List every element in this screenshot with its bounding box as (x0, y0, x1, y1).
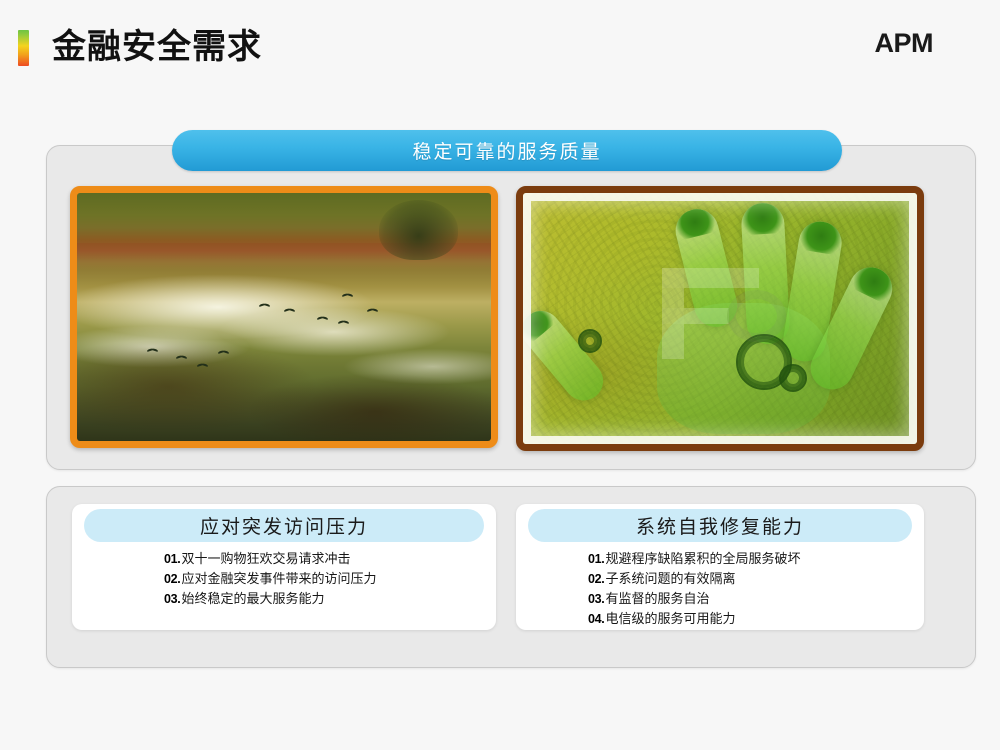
list-item-number: 02. (164, 570, 180, 589)
slide-header: 金融安全需求 APMCon (0, 0, 1000, 90)
list-item-number: 03. (164, 590, 180, 609)
list-item-label: 有监督的服务自治 (605, 589, 709, 608)
section-banner: 稳定可靠的服务质量 (172, 130, 842, 171)
list-item-number: 03. (588, 590, 604, 609)
list-item-number: 01. (164, 550, 180, 569)
logo-n-text: n (968, 28, 984, 58)
torn-edge-overlay (523, 193, 917, 444)
self-healing-card: 系统自我修复能力 01. 规避程序缺陷累积的全局服务破坏 02. 子系统问题的有… (516, 504, 924, 630)
logo-o-text: o (952, 28, 968, 58)
slide-root: 金融安全需求 APMCon 稳定可靠的服务质量 (0, 0, 1000, 750)
green-hand-canvas (523, 193, 917, 444)
list-item-number: 04. (588, 610, 604, 629)
self-healing-card-title: 系统自我修复能力 (636, 512, 804, 539)
apmcon-logo: APMCon (875, 26, 985, 60)
burst-traffic-list: 01. 双十一购物狂欢交易请求冲击 02. 应对金融突发事件带来的访问压力 03… (72, 549, 496, 609)
shoreline-tree-shape (379, 200, 458, 260)
burst-traffic-card: 应对突发访问压力 01. 双十一购物狂欢交易请求冲击 02. 应对金融突发事件带… (72, 504, 496, 630)
burst-traffic-card-title: 应对突发访问压力 (200, 512, 368, 539)
list-item-label: 子系统问题的有效隔离 (605, 569, 735, 588)
list-item-number: 02. (588, 570, 604, 589)
list-item: 04. 电信级的服务可用能力 (588, 609, 924, 629)
stormy-sea-image (70, 186, 498, 448)
gradient-bar-icon (18, 30, 29, 66)
list-item: 03. 有监督的服务自治 (588, 589, 924, 609)
list-item-label: 规避程序缺陷累积的全局服务破坏 (605, 549, 800, 568)
section-banner-label: 稳定可靠的服务质量 (412, 137, 601, 164)
list-item-label: 始终稳定的最大服务能力 (181, 589, 324, 608)
self-healing-card-header: 系统自我修复能力 (528, 509, 912, 542)
green-hand-image (516, 186, 924, 451)
list-item-label: 电信级的服务可用能力 (605, 609, 735, 628)
list-item: 01. 双十一购物狂欢交易请求冲击 (164, 549, 496, 569)
list-item: 02. 子系统问题的有效隔离 (588, 569, 924, 589)
list-item-label: 应对金融突发事件带来的访问压力 (181, 569, 376, 588)
logo-apm-text: APM (875, 28, 934, 58)
logo-c-text: C (933, 28, 952, 58)
list-item-label: 双十一购物狂欢交易请求冲击 (181, 549, 350, 568)
stormy-sea-canvas (77, 193, 491, 441)
list-item: 03. 始终稳定的最大服务能力 (164, 589, 496, 609)
list-item-number: 01. (588, 550, 604, 569)
burst-traffic-card-header: 应对突发访问压力 (84, 509, 484, 542)
list-item: 02. 应对金融突发事件带来的访问压力 (164, 569, 496, 589)
self-healing-list: 01. 规避程序缺陷累积的全局服务破坏 02. 子系统问题的有效隔离 03. 有… (516, 549, 924, 629)
list-item: 01. 规避程序缺陷累积的全局服务破坏 (588, 549, 924, 569)
page-title: 金融安全需求 (52, 24, 262, 70)
